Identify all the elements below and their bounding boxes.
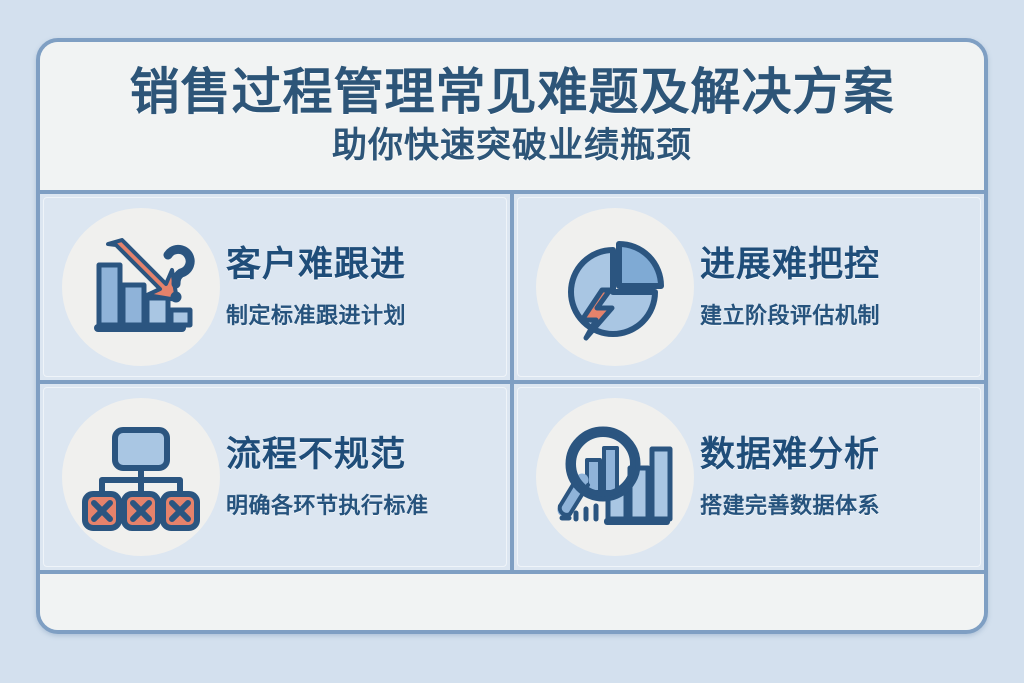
card-description: 明确各环节执行标准 xyxy=(226,493,429,519)
page-title: 销售过程管理常见难题及解决方案 xyxy=(130,66,895,119)
card-title: 流程不规范 xyxy=(226,435,406,475)
card-title: 进展难把控 xyxy=(700,245,880,285)
page-subtitle: 助你快速突破业绩瓶颈 xyxy=(332,127,692,166)
card-text-process-standard: 流程不规范 明确各环节执行标准 xyxy=(220,435,496,520)
card-description: 制定标准跟进计划 xyxy=(226,303,406,329)
card-progress-control[interactable]: 进展难把控 建立阶段评估机制 xyxy=(514,194,984,380)
card-description: 建立阶段评估机制 xyxy=(700,303,880,329)
magnifier-bar-chart-icon xyxy=(556,418,674,536)
card-grid: 客户难跟进 制定标准跟进计划 进展难把控 xyxy=(40,194,984,570)
card-title: 数据难分析 xyxy=(700,435,880,475)
card-customer-follow-up[interactable]: 客户难跟进 制定标准跟进计划 xyxy=(40,194,510,380)
poster-footer xyxy=(40,570,984,630)
declining-bar-chart-arrow-question-icon xyxy=(82,228,200,346)
icon-circle-progress-control xyxy=(536,208,694,366)
card-text-data-analysis: 数据难分析 搭建完善数据体系 xyxy=(694,435,970,520)
pie-chart-lightning-icon xyxy=(556,228,674,346)
card-title: 客户难跟进 xyxy=(226,245,406,285)
card-process-standard[interactable]: 流程不规范 明确各环节执行标准 xyxy=(40,384,510,570)
card-data-analysis[interactable]: 数据难分析 搭建完善数据体系 xyxy=(514,384,984,570)
icon-circle-customer-follow-up xyxy=(62,208,220,366)
poster-header: 销售过程管理常见难题及解决方案 助你快速突破业绩瓶颈 xyxy=(40,42,984,194)
icon-circle-process-standard xyxy=(62,398,220,556)
card-text-customer-follow-up: 客户难跟进 制定标准跟进计划 xyxy=(220,245,496,330)
icon-circle-data-analysis xyxy=(536,398,694,556)
card-text-progress-control: 进展难把控 建立阶段评估机制 xyxy=(694,245,970,330)
infographic-poster: 销售过程管理常见难题及解决方案 助你快速突破业绩瓶颈 xyxy=(36,38,988,634)
org-chart-x-marks-icon xyxy=(82,418,200,536)
card-description: 搭建完善数据体系 xyxy=(700,493,880,519)
